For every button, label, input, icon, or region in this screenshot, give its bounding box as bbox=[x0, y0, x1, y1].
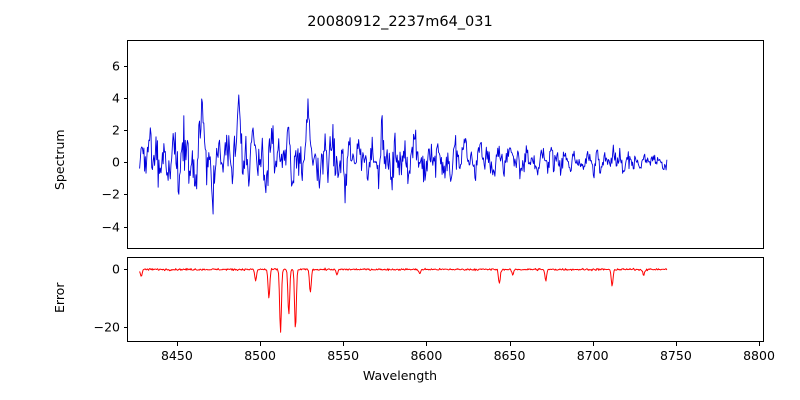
x-tick bbox=[177, 342, 178, 346]
x-tick-label: 8650 bbox=[494, 348, 526, 363]
x-axis-label: Wavelength bbox=[0, 368, 800, 383]
error-y-tick-label: −20 bbox=[65, 320, 120, 335]
spectrum-y-tick bbox=[124, 130, 128, 131]
spectrum-y-tick-label: 2 bbox=[65, 123, 120, 138]
error-y-tick bbox=[124, 327, 128, 328]
x-tick bbox=[510, 342, 511, 346]
spectrum-y-tick-label: 6 bbox=[65, 58, 120, 73]
error-trace bbox=[128, 258, 763, 341]
error-axis-label: Error bbox=[52, 283, 67, 313]
x-tick-label: 8700 bbox=[577, 348, 609, 363]
spectrum-y-tick bbox=[124, 194, 128, 195]
spectrum-trace bbox=[128, 41, 763, 248]
x-tick-label: 8600 bbox=[410, 348, 442, 363]
spectrum-y-tick bbox=[124, 162, 128, 163]
error-y-tick bbox=[124, 269, 128, 270]
error-plot-area bbox=[127, 257, 764, 342]
spectrum-y-tick bbox=[124, 98, 128, 99]
x-tick-label: 8450 bbox=[161, 348, 193, 363]
matplotlib-figure: 20080912_2237m64_031 6420−2−4 Spectrum 0… bbox=[0, 0, 800, 400]
spectrum-axis-label: Spectrum bbox=[52, 129, 67, 190]
spectrum-y-tick-label: 0 bbox=[65, 155, 120, 170]
x-tick-label: 8550 bbox=[327, 348, 359, 363]
x-tick bbox=[593, 342, 594, 346]
spectrum-y-tick bbox=[124, 66, 128, 67]
x-tick bbox=[343, 342, 344, 346]
x-tick bbox=[759, 342, 760, 346]
x-tick-label: 8800 bbox=[743, 348, 775, 363]
x-tick-label: 8500 bbox=[244, 348, 276, 363]
x-tick bbox=[426, 342, 427, 346]
spectrum-y-tick-label: −2 bbox=[65, 187, 120, 202]
error-y-tick-label: 0 bbox=[65, 261, 120, 276]
page-title: 20080912_2237m64_031 bbox=[0, 14, 800, 30]
x-tick bbox=[676, 342, 677, 346]
spectrum-plot-area bbox=[127, 40, 764, 249]
spectrum-y-tick-label: 4 bbox=[65, 90, 120, 105]
x-tick-label: 8750 bbox=[660, 348, 692, 363]
spectrum-y-tick-label: −4 bbox=[65, 219, 120, 234]
x-tick bbox=[260, 342, 261, 346]
spectrum-y-tick bbox=[124, 227, 128, 228]
